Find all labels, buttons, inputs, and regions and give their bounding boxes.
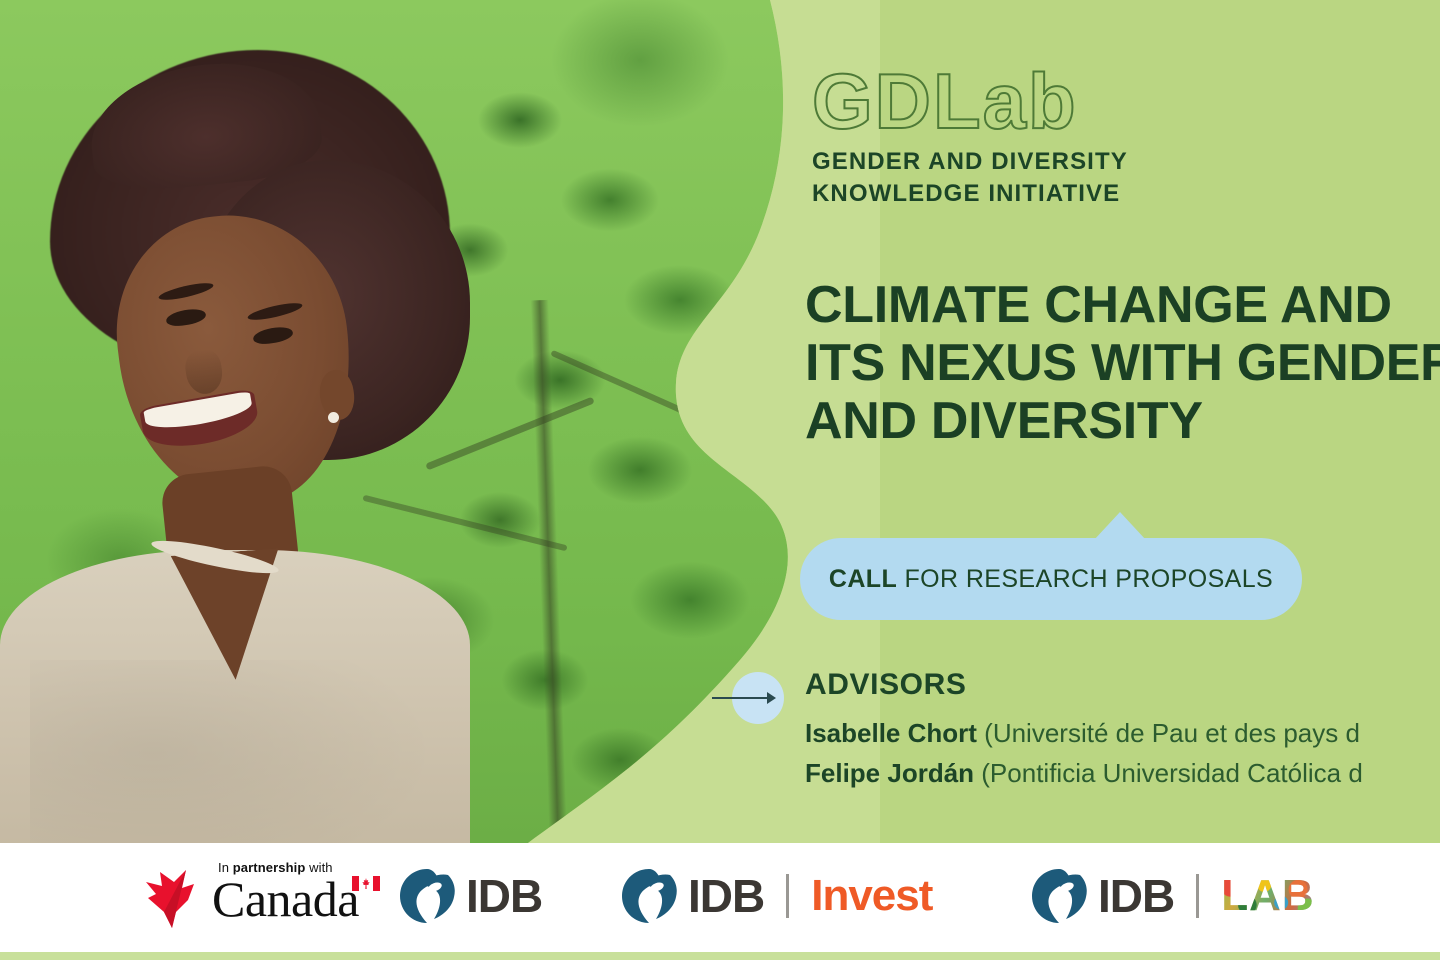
advisor-affiliation: (Université de Pau et des pays d xyxy=(977,718,1360,748)
idb-globe-icon xyxy=(398,867,456,925)
advisor-row: Isabelle Chort (Université de Pau et des… xyxy=(805,714,1440,754)
flag-center xyxy=(359,876,373,891)
maple-leaf-icon xyxy=(142,868,196,930)
idb-globe-icon xyxy=(620,867,678,925)
arrow-head xyxy=(767,692,776,704)
page-title-line2: ITS NEXUS WITH GENDER xyxy=(805,334,1440,392)
promotional-banner: GDLab GENDER AND DIVERSITY KNOWLEDGE INI… xyxy=(0,0,1440,960)
logo-divider xyxy=(1196,874,1199,918)
idb-wordmark: IDB xyxy=(1098,873,1174,919)
gdlab-logo: GDLab xyxy=(812,62,1078,140)
advisors-heading: ADVISORS xyxy=(805,668,967,702)
flag-bar-right xyxy=(373,876,380,891)
gdlab-subtitle-line1: GENDER AND DIVERSITY xyxy=(812,146,1128,178)
advisor-row: Felipe Jordán (Pontificia Universidad Ca… xyxy=(805,754,1440,794)
call-banner-emphasis: CALL xyxy=(829,565,897,593)
idb-wordmark: IDB xyxy=(688,873,764,919)
call-for-proposals-banner: CALL FOR RESEARCH PROPOSALS xyxy=(800,512,1302,620)
gdlab-subtitle: GENDER AND DIVERSITY KNOWLEDGE INITIATIV… xyxy=(812,146,1128,210)
lab-wordmark: LAB xyxy=(1221,874,1314,918)
call-banner-rest: FOR RESEARCH PROPOSALS xyxy=(897,565,1273,593)
flag-maple-leaf xyxy=(362,878,370,889)
call-banner-body: CALL FOR RESEARCH PROPOSALS xyxy=(800,538,1302,620)
flag-bar-left xyxy=(352,876,359,891)
arrow-right-icon xyxy=(712,672,784,728)
logo-divider xyxy=(786,874,789,918)
advisor-name: Felipe Jordán xyxy=(805,758,974,788)
call-banner-text: CALL FOR RESEARCH PROPOSALS xyxy=(829,565,1273,594)
idb-lab-logo: IDB LAB xyxy=(1030,864,1315,928)
advisor-affiliation: (Pontificia Universidad Católica d xyxy=(974,758,1363,788)
arrow-shaft xyxy=(712,697,770,699)
page-title-line1: CLIMATE CHANGE AND xyxy=(805,276,1440,334)
idb-wordmark: IDB xyxy=(466,873,542,919)
speech-bubble-tail xyxy=(1094,512,1146,540)
advisors-list: Isabelle Chort (Université de Pau et des… xyxy=(805,714,1440,793)
canada-wordmark: Canada xyxy=(212,874,359,924)
invest-wordmark: Invest xyxy=(811,874,932,918)
page-title-line3: AND DIVERSITY xyxy=(805,392,1440,450)
gdlab-subtitle-line2: KNOWLEDGE INITIATIVE xyxy=(812,178,1128,210)
idb-globe-icon xyxy=(1030,867,1088,925)
canada-flag-icon xyxy=(352,876,380,891)
idb-logo: IDB xyxy=(398,864,542,928)
idb-invest-logo: IDB Invest xyxy=(620,864,932,928)
content-panel: GDLab GENDER AND DIVERSITY KNOWLEDGE INI… xyxy=(0,0,1440,843)
footer-bottom-rule xyxy=(0,952,1440,960)
advisor-name: Isabelle Chort xyxy=(805,718,977,748)
page-title: CLIMATE CHANGE AND ITS NEXUS WITH GENDER… xyxy=(805,276,1440,451)
canada-logo: In partnership with Canada xyxy=(140,858,350,936)
